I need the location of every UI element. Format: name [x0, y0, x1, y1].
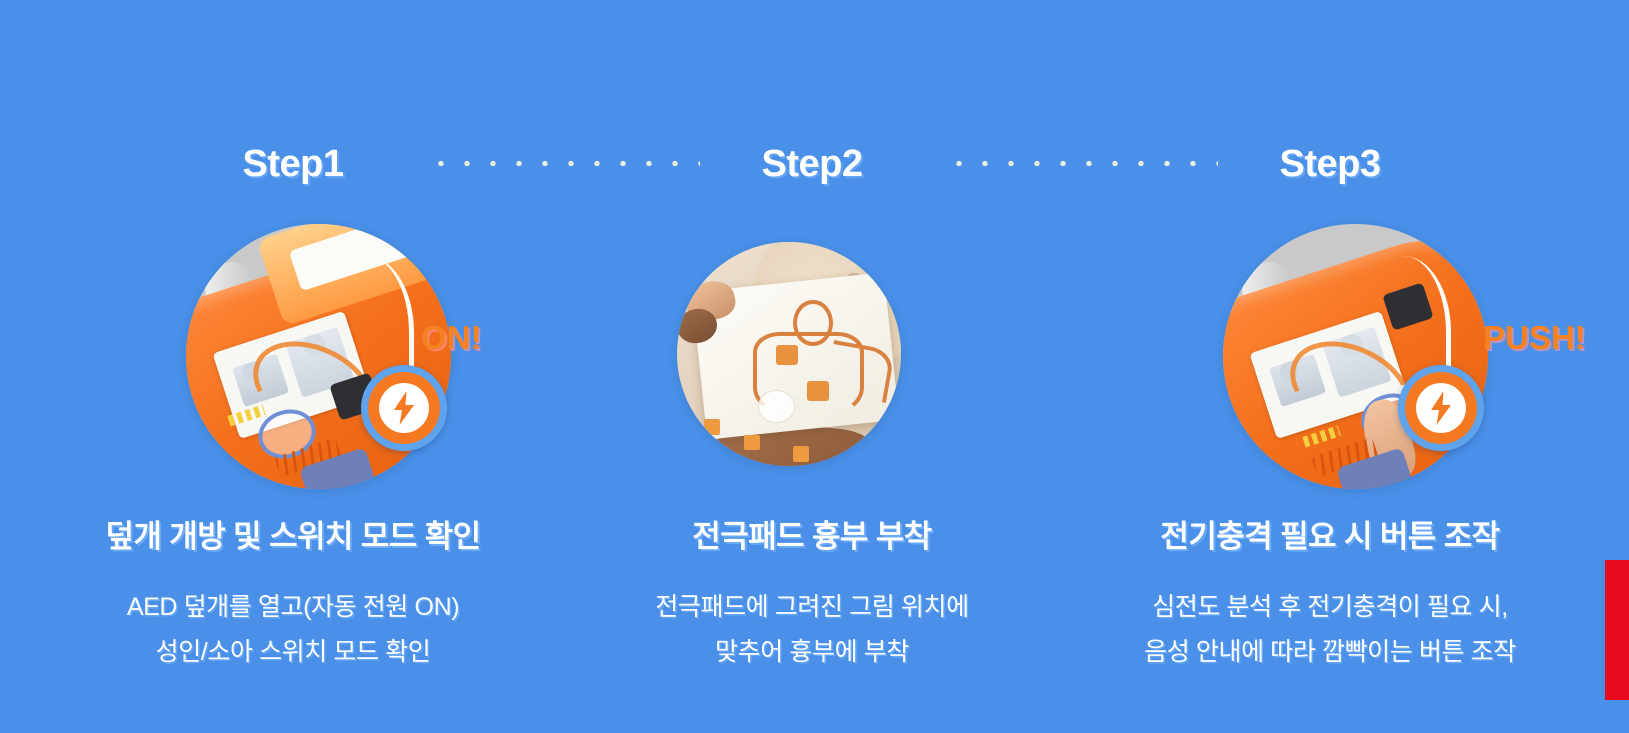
pad-placement-marker-upper — [776, 345, 798, 365]
pad-tab-1 — [704, 419, 720, 435]
step-column-3: 전기충격 필요 시 버튼 조작 심전도 분석 후 전기충격이 필요 시, 음성 … — [1070, 0, 1590, 733]
step-2-title: 전극패드 흉부 부착 — [552, 515, 1072, 559]
step-2-body: 전극패드에 그려진 그림 위치에 맞추어 흉부에 부착 — [552, 585, 1072, 675]
lightning-badge-step-3 — [1398, 365, 1484, 451]
step-column-2: 전극패드 흉부 부착 전극패드에 그려진 그림 위치에 맞추어 흉부에 부착 — [552, 0, 1072, 733]
step-2-body-line-1: 전극패드에 그려진 그림 위치에 — [552, 585, 1072, 630]
step-3-title: 전기충격 필요 시 버튼 조작 — [1070, 515, 1590, 559]
step-3-body-line-2: 음성 안내에 따라 깜빡이는 버튼 조작 — [1070, 630, 1590, 675]
step-1-body-line-2: 성인/소아 스위치 모드 확인 — [33, 630, 553, 675]
step-1-body-line-1: AED 덮개를 열고(자동 전원 ON) — [33, 585, 553, 630]
step-3-cta-label: PUSH! — [1483, 319, 1586, 357]
aed-usage-steps-infographic: Step1 Step2 Step3 — [0, 0, 1629, 733]
step-1-caption: 덮개 개방 및 스위치 모드 확인 AED 덮개를 열고(자동 전원 ON) 성… — [33, 515, 553, 675]
pad-tab-3 — [793, 446, 809, 462]
step-column-1: 덮개 개방 및 스위치 모드 확인 AED 덮개를 열고(자동 전원 ON) 성… — [33, 0, 553, 733]
lightning-bolt-icon — [391, 391, 417, 425]
badge-core — [1416, 383, 1466, 433]
red-edge-panel — [1605, 560, 1629, 700]
step-3-body: 심전도 분석 후 전기충격이 필요 시, 음성 안내에 따라 깜빡이는 버튼 조… — [1070, 585, 1590, 675]
pad-figure-head — [793, 300, 832, 346]
step-3-body-line-1: 심전도 분석 후 전기충격이 필요 시, — [1070, 585, 1590, 630]
lightning-bolt-icon — [1428, 391, 1454, 425]
badge-ring — [1405, 372, 1477, 444]
pad-tab-2 — [744, 435, 760, 451]
pad-placement-marker-lower — [807, 381, 829, 401]
badge-core — [379, 383, 429, 433]
step-2-media — [552, 224, 1072, 484]
step-2-caption: 전극패드 흉부 부착 전극패드에 그려진 그림 위치에 맞추어 흉부에 부착 — [552, 515, 1072, 675]
electrode-pad-photo — [677, 242, 901, 466]
electrode-pad-illustration — [677, 242, 901, 466]
badge-ring — [368, 372, 440, 444]
step-1-cta-label: ON! — [421, 319, 482, 357]
step-1-title: 덮개 개방 및 스위치 모드 확인 — [33, 515, 553, 559]
step-2-body-line-2: 맞추어 흉부에 부착 — [552, 630, 1072, 675]
step-1-body: AED 덮개를 열고(자동 전원 ON) 성인/소아 스위치 모드 확인 — [33, 585, 553, 675]
lightning-badge-step-1 — [361, 365, 447, 451]
step-3-caption: 전기충격 필요 시 버튼 조작 심전도 분석 후 전기충격이 필요 시, 음성 … — [1070, 515, 1590, 675]
